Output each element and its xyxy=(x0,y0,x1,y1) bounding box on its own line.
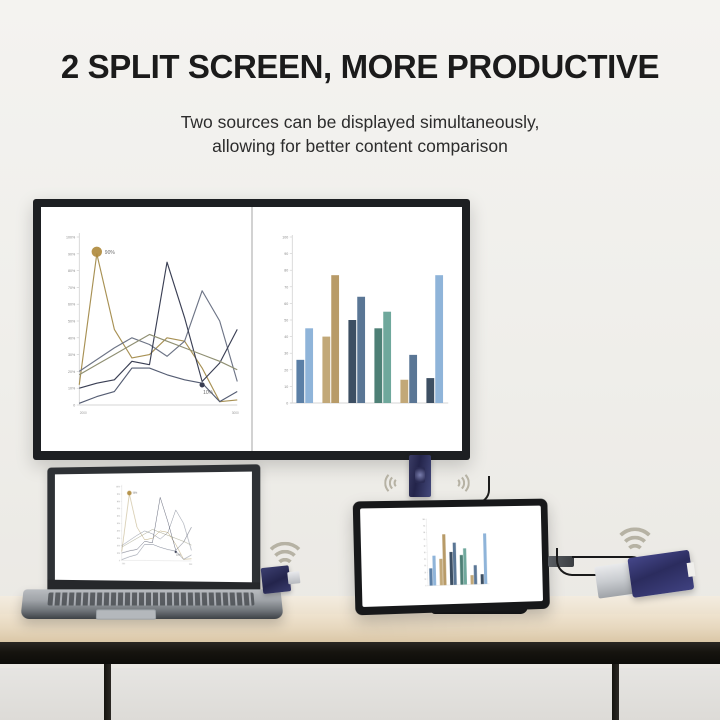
subtitle-line-1: Two sources can be displayed simultaneou… xyxy=(0,110,720,135)
svg-text:30%: 30% xyxy=(68,353,76,357)
svg-text:90%: 90% xyxy=(133,493,137,495)
desk-leg-right xyxy=(612,664,619,720)
svg-text:30: 30 xyxy=(284,352,288,356)
svg-text:10%: 10% xyxy=(176,555,181,557)
svg-text:0: 0 xyxy=(119,560,120,562)
svg-text:2000: 2000 xyxy=(80,411,87,415)
svg-text:10%: 10% xyxy=(117,553,121,555)
split-screen-divider xyxy=(251,207,253,451)
laptop: 010%20%30%40%50%60%70%80%90%100%20003000… xyxy=(22,466,282,618)
monitor: 010%20%30%40%50%60%70%80%90%100%20003000… xyxy=(33,199,470,460)
svg-text:90%: 90% xyxy=(105,250,116,256)
wifi-signal-icon-laptop xyxy=(264,540,305,574)
line-chart-monitor: 010%20%30%40%50%60%70%80%90%100%20003000… xyxy=(41,207,252,451)
svg-text:40: 40 xyxy=(284,335,288,339)
wifi-signal-icon-right xyxy=(614,526,656,561)
wifi-signal-icon-monitor-right xyxy=(451,471,471,495)
svg-text:10: 10 xyxy=(425,579,427,581)
svg-text:90%: 90% xyxy=(68,252,76,256)
monitor-pane-left: 010%20%30%40%50%60%70%80%90%100%20003000… xyxy=(41,207,252,451)
subtitle-line-2: allowing for better content comparison xyxy=(0,134,720,159)
desk-leg-left xyxy=(104,664,111,720)
tablet-screen: 0102030405060708090100 xyxy=(360,506,543,607)
svg-text:20%: 20% xyxy=(117,545,121,547)
svg-text:90: 90 xyxy=(284,252,288,256)
svg-text:40: 40 xyxy=(424,559,426,561)
svg-text:20: 20 xyxy=(284,368,288,372)
svg-text:3000: 3000 xyxy=(232,411,239,415)
svg-text:70: 70 xyxy=(424,539,426,541)
laptop-keyboard[interactable] xyxy=(47,593,254,606)
svg-text:0: 0 xyxy=(286,402,288,406)
svg-text:80%: 80% xyxy=(117,501,121,503)
svg-text:50%: 50% xyxy=(68,320,76,324)
svg-text:90%: 90% xyxy=(117,494,121,496)
svg-text:20: 20 xyxy=(424,572,426,574)
monitor-pane-right: 0102030405060708090100 xyxy=(252,207,463,451)
svg-text:30%: 30% xyxy=(117,538,121,540)
svg-text:30: 30 xyxy=(424,565,426,567)
tablet: 0102030405060708090100 xyxy=(353,499,550,616)
svg-text:10%: 10% xyxy=(203,390,214,396)
svg-text:100: 100 xyxy=(282,236,288,240)
svg-text:80: 80 xyxy=(423,532,425,534)
line-chart-laptop: 010%20%30%40%50%60%70%80%90%100%20003000… xyxy=(55,472,252,583)
svg-text:40%: 40% xyxy=(68,336,76,340)
bar-chart-tablet: 0102030405060708090100 xyxy=(360,506,543,607)
svg-text:0: 0 xyxy=(73,404,75,408)
svg-text:100%: 100% xyxy=(116,486,121,488)
svg-text:60%: 60% xyxy=(117,516,121,518)
svg-text:40%: 40% xyxy=(117,531,121,533)
svg-text:70: 70 xyxy=(284,285,288,289)
svg-text:60: 60 xyxy=(424,546,426,548)
svg-text:3000: 3000 xyxy=(189,564,192,566)
svg-text:80: 80 xyxy=(284,269,288,273)
bar-chart-monitor: 0102030405060708090100 xyxy=(252,207,463,451)
svg-text:10: 10 xyxy=(284,385,288,389)
laptop-screen: 010%20%30%40%50%60%70%80%90%100%20003000… xyxy=(55,472,252,583)
svg-text:90: 90 xyxy=(423,526,425,528)
svg-text:0: 0 xyxy=(426,585,427,587)
svg-text:20%: 20% xyxy=(68,370,76,374)
svg-text:60: 60 xyxy=(284,302,288,306)
laptop-lid: 010%20%30%40%50%60%70%80%90%100%20003000… xyxy=(47,464,260,596)
svg-text:50: 50 xyxy=(424,552,426,554)
svg-text:80%: 80% xyxy=(68,269,76,273)
laptop-trackpad[interactable] xyxy=(96,609,156,619)
svg-text:100%: 100% xyxy=(66,236,76,240)
desk-edge xyxy=(0,642,720,664)
page-title: 2 SPLIT SCREEN, MORE PRODUCTIVE xyxy=(0,48,720,86)
svg-text:50: 50 xyxy=(284,319,288,323)
svg-text:60%: 60% xyxy=(68,303,76,307)
svg-text:50%: 50% xyxy=(117,523,121,525)
svg-text:100: 100 xyxy=(422,519,425,521)
monitor-screen: 010%20%30%40%50%60%70%80%90%100%20003000… xyxy=(41,207,462,451)
svg-text:70%: 70% xyxy=(68,286,76,290)
svg-text:2000: 2000 xyxy=(122,563,125,565)
wifi-signal-icon-monitor-left xyxy=(383,471,403,495)
svg-text:70%: 70% xyxy=(117,508,121,510)
svg-text:10%: 10% xyxy=(68,387,76,391)
